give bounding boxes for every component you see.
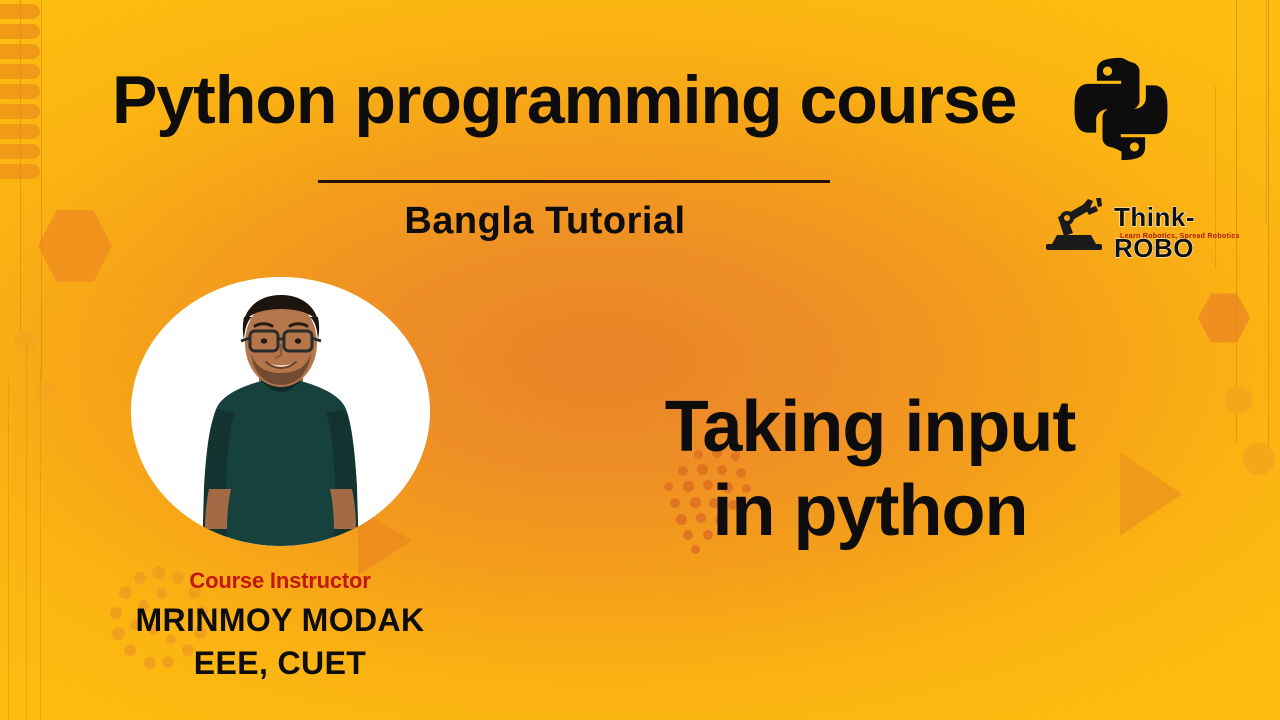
course-title: Python programming course <box>112 66 1016 134</box>
hexagon-decoration-right <box>1198 292 1250 344</box>
brand-tagline: Learn Robotics, Spread Robotics <box>1120 233 1240 240</box>
instructor-photo <box>131 277 430 546</box>
topic-line-2: in python <box>570 470 1170 554</box>
video-thumbnail-slide: Python programming course Bangla Tutoria… <box>0 0 1280 720</box>
python-logo-icon <box>1068 56 1174 162</box>
topic-heading: Taking input in python <box>570 386 1170 553</box>
brand-logo: Think-ROBO Learn Robotics, Spread Roboti… <box>1034 196 1250 256</box>
instructor-role-label: Course Instructor <box>0 568 560 594</box>
instructor-name: MRINMOY MODAK <box>0 602 560 639</box>
title-divider <box>318 180 830 183</box>
topic-line-1: Taking input <box>570 386 1170 470</box>
instructor-department: EEE, CUET <box>0 645 560 682</box>
vertical-line-right-2 <box>1266 0 1267 224</box>
robot-arm-icon <box>1034 196 1112 250</box>
